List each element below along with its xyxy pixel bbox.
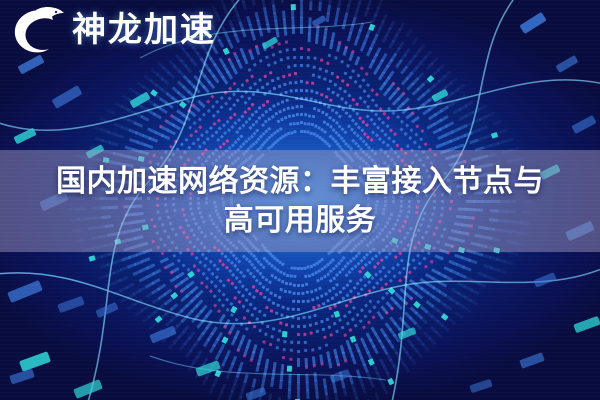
headline-band: 国内加速网络资源：丰富接入节点与 高可用服务 xyxy=(0,150,600,252)
brand-logo: 神龙加速 xyxy=(10,4,216,56)
promo-banner: 神龙加速 国内加速网络资源：丰富接入节点与 高可用服务 xyxy=(0,0,600,400)
headline-text: 国内加速网络资源：丰富接入节点与 高可用服务 xyxy=(42,162,558,240)
brand-name: 神龙加速 xyxy=(72,13,216,47)
dragon-circle-logo-icon xyxy=(10,4,66,56)
